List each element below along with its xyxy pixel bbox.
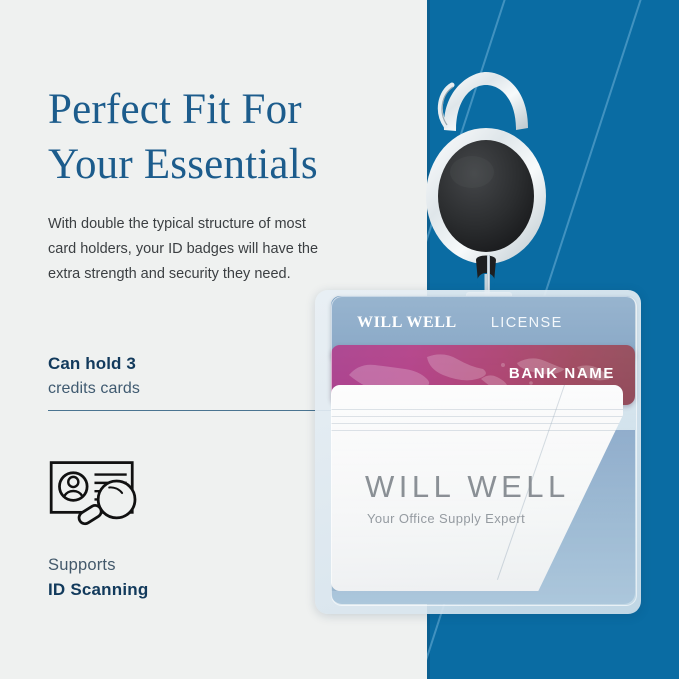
feature-subtitle: credits cards xyxy=(48,380,358,398)
scan-label-group: Supports ID Scanning xyxy=(48,556,278,600)
id-scanning-feature: Supports ID Scanning xyxy=(48,458,278,600)
scan-label-bottom: ID Scanning xyxy=(48,580,278,600)
body-paragraph: With double the typical structure of mos… xyxy=(48,212,320,287)
headline-line-2: Your Essentials xyxy=(48,137,388,192)
capacity-feature: Can hold 3 credits cards xyxy=(48,354,358,398)
id-card-magnifier-icon xyxy=(48,458,152,528)
headline-line-1: Perfect Fit For xyxy=(48,86,302,133)
scan-label-top: Supports xyxy=(48,556,278,575)
feature-title: Can hold 3 xyxy=(48,354,358,374)
product-marketing-image: Perfect Fit For Your Essentials With dou… xyxy=(0,0,679,679)
retractable-badge-reel-carabiner-icon xyxy=(424,68,548,308)
page-title: Perfect Fit For Your Essentials xyxy=(48,82,388,192)
holder-inner-outline xyxy=(331,296,637,606)
